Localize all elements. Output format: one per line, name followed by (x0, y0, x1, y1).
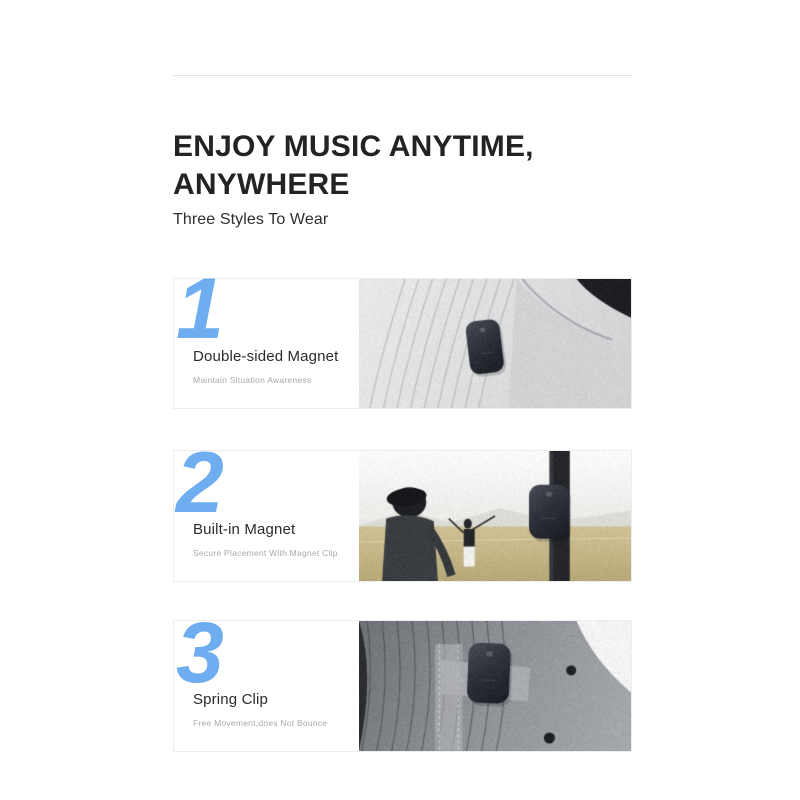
page-subheadline: Three Styles To Wear (173, 209, 328, 231)
card-3-subtitle: Free Movement,does Not Bounce (193, 717, 359, 729)
card-2-photo-canvas (359, 451, 631, 581)
product-feature-page: ENJOY MUSIC ANYTIME, ANYWHERE Three Styl… (0, 0, 800, 800)
card-numeral-2: 2 (176, 440, 224, 526)
top-divider (173, 75, 632, 76)
card-2-photo (359, 451, 631, 581)
card-numeral-1: 1 (176, 266, 224, 352)
card-1-photo (359, 279, 631, 408)
card-numeral-3: 3 (176, 610, 224, 696)
card-1-photo-canvas (359, 279, 631, 408)
card-1-subtitle: Maintain Situation Awareness (193, 374, 359, 386)
card-3-photo (359, 621, 631, 751)
feature-card-3[interactable]: Spring Clip Free Movement,does Not Bounc… (173, 620, 632, 752)
card-3-photo-canvas (359, 621, 631, 751)
page-headline: ENJOY MUSIC ANYTIME, ANYWHERE (173, 128, 643, 204)
feature-card-1[interactable]: Double-sided Magnet Maintain Situation A… (173, 278, 632, 409)
card-2-subtitle: Secure Placement With Magnet Clip (193, 547, 359, 559)
feature-card-2[interactable]: Built-in Magnet Secure Placement With Ma… (173, 450, 632, 582)
